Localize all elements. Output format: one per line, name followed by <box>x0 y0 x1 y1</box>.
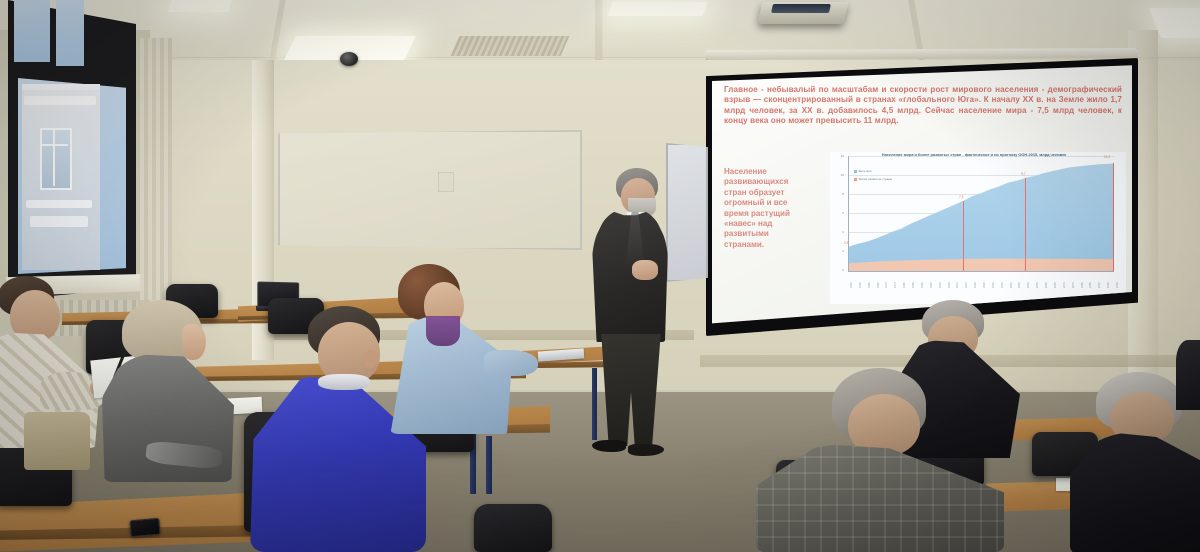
x-tick-label: 1970 <box>885 282 888 288</box>
x-tick-label: 2095 <box>1107 282 1110 288</box>
x-tick-label: 1975 <box>894 282 897 288</box>
x-tick-label: 2020 <box>974 282 977 288</box>
y-axis <box>848 156 849 271</box>
y-tick-0: 0 <box>832 268 844 272</box>
vertical-blinds[interactable] <box>140 38 172 300</box>
presenter-hands <box>632 260 658 280</box>
backpack-on-floor[interactable] <box>474 504 552 552</box>
woman-curly-hair <box>388 264 528 444</box>
facade-ornament-top <box>22 84 100 90</box>
x-tick-label: 2080 <box>1081 282 1084 288</box>
man-plaid-jacket <box>772 368 1012 552</box>
presenter-shoe-right <box>628 444 664 456</box>
window-upper-glass <box>14 0 50 62</box>
marker-label-2050: 9,7 <box>1021 172 1025 176</box>
chart-plot-area <box>848 156 1114 271</box>
x-tick-label: 2100 <box>1116 282 1119 288</box>
y-tick-12: 12 <box>832 154 844 158</box>
x-tick-label: 2055 <box>1036 282 1039 288</box>
y-tick-8: 8 <box>832 192 844 196</box>
woman-curly-arm <box>484 350 538 376</box>
man-blue-collar <box>318 374 370 390</box>
x-tick-label: 1955 <box>859 282 862 288</box>
marker-label-2100: 11,2 <box>1104 155 1110 159</box>
x-tick-label: 2035 <box>1001 282 1004 288</box>
man-plaid-body <box>756 444 1004 552</box>
marker-2015 <box>963 201 964 271</box>
woman-headscarf <box>106 300 266 500</box>
x-tick-label: 2040 <box>1010 282 1013 288</box>
ceiling-light-2 <box>607 2 707 16</box>
x-tick-label: 2015 <box>965 282 968 288</box>
x-tick-label: 2065 <box>1054 282 1057 288</box>
y-tick-2: 2 <box>832 249 844 253</box>
legend-swatch-developed <box>854 178 857 181</box>
window-upper-glass-2 <box>56 0 84 66</box>
x-tick-label: 1990 <box>921 282 924 288</box>
legend-swatch-world <box>854 170 857 173</box>
marker-2050 <box>1025 178 1026 271</box>
x-tick-label: 2010 <box>956 282 959 288</box>
woman-curly-lanyard <box>426 316 460 346</box>
x-tick-label: 2075 <box>1072 282 1075 288</box>
x-tick-label: 2090 <box>1098 282 1101 288</box>
x-tick-label: 1985 <box>912 282 915 288</box>
facade-window-mullion <box>53 128 55 186</box>
woman-headscarf-face <box>182 324 206 360</box>
y-tick-10: 10 <box>832 173 844 177</box>
x-tick-label: 1960 <box>868 282 871 288</box>
desk-third-leg-b <box>486 436 492 494</box>
x-tick-label: 2060 <box>1045 282 1048 288</box>
presenter-trousers <box>600 334 662 446</box>
classroom-scene: Главное - небывалый по масштабам и скоро… <box>0 0 1200 552</box>
x-tick-label: 2030 <box>992 282 995 288</box>
population-chart: Население мира и более развитых стран - … <box>830 152 1126 304</box>
y-tick-4: 4 <box>832 230 844 234</box>
presenter-shoe-left <box>592 440 626 452</box>
projector-lens <box>771 4 831 13</box>
x-tick-label: 2085 <box>1089 282 1092 288</box>
facade-window-transom <box>40 144 68 146</box>
facade-window <box>40 128 72 190</box>
man-grey-right-body <box>1070 432 1200 552</box>
x-axis <box>848 271 1114 272</box>
ceiling-light-4 <box>168 0 232 12</box>
presenter <box>588 168 684 458</box>
x-tick-label: 2005 <box>948 282 951 288</box>
facade-balcony <box>30 216 88 227</box>
x-tick-label: 1950 <box>850 282 853 288</box>
slide-side-note: Население развивающихся стран образует о… <box>724 167 792 250</box>
bag-on-chair[interactable] <box>24 412 90 470</box>
smartphone-on-desk[interactable] <box>129 518 160 538</box>
x-tick-label: 1965 <box>877 282 880 288</box>
wall-panel-left <box>278 130 582 250</box>
facade-cornice-2 <box>26 200 92 208</box>
x-tick-label: 2025 <box>983 282 986 288</box>
projection-screen: Главное - небывалый по масштабам и скоро… <box>712 64 1132 326</box>
facade-cornice-1 <box>24 96 96 105</box>
x-tick-label: 1995 <box>930 282 933 288</box>
ceiling-vent <box>451 36 570 56</box>
legend-item-world: Весь мир <box>854 169 872 173</box>
x-tick-label: 2045 <box>1018 282 1021 288</box>
x-tick-label: 1980 <box>903 282 906 288</box>
x-tick-label: 2070 <box>1063 282 1066 288</box>
x-tick-label: 2050 <box>1027 282 1030 288</box>
attendee-shoulder-edge <box>1176 340 1200 410</box>
x-tick-label: 2000 <box>939 282 942 288</box>
marker-label-2015: 7,3 <box>959 195 963 199</box>
marker-2100 <box>1113 163 1114 271</box>
man-blue-ear <box>364 350 378 368</box>
slide-body-text: Главное - небывалый по масштабам и скоро… <box>724 85 1122 126</box>
dome-security-camera <box>340 52 358 66</box>
legend-item-developed: Более развитые страны <box>854 177 892 181</box>
y-tick-6: 6 <box>832 211 844 215</box>
